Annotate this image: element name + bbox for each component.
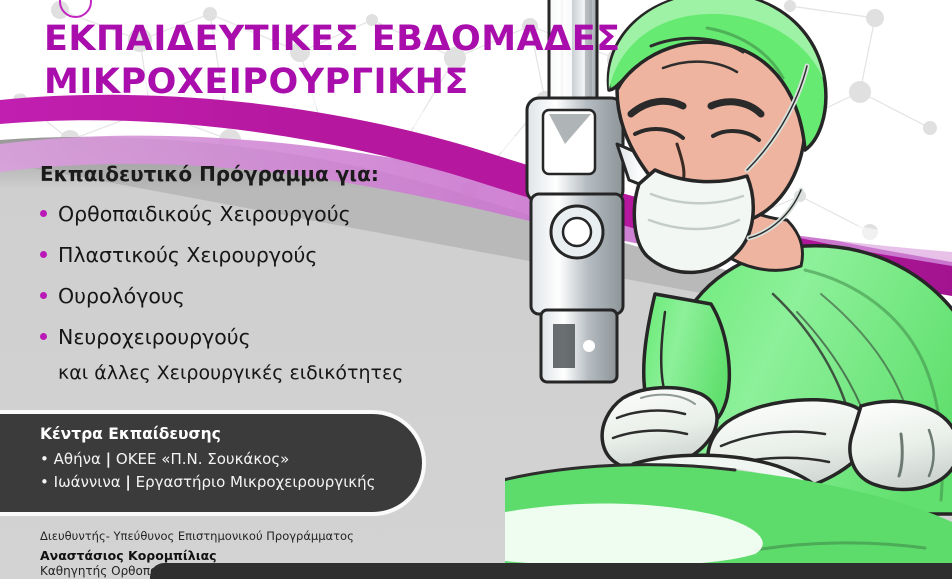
center-bullet-icon: • bbox=[40, 450, 49, 468]
center-city: Αθήνα bbox=[54, 450, 101, 468]
program-note: και άλλες Χειρουργικές ειδικότητες bbox=[58, 362, 510, 384]
credit-role: Διευθυντής- Υπεύθυνος Επιστημονικού Προγ… bbox=[40, 529, 354, 543]
program-list-item: Πλαστικούς Χειρουργούς bbox=[40, 243, 510, 267]
program-item-label: Νευροχειρουργούς bbox=[58, 325, 251, 349]
logo-ring-icon bbox=[59, 0, 92, 18]
program-block: Εκπαιδευτικό Πρόγραμμα για: Ορθοπαιδικού… bbox=[40, 162, 510, 384]
training-centers-panel: Κέντρα Εκπαίδευσης • Αθήνα | ΟΚΕΕ «Π.Ν. … bbox=[0, 414, 422, 512]
bullet-dot-icon bbox=[40, 292, 47, 299]
program-list-item: Ορθοπαιδικούς Χειρουργούς bbox=[40, 202, 510, 226]
program-list-item: Ουρολόγους bbox=[40, 284, 510, 308]
program-list-item: Νευροχειρουργούς bbox=[40, 325, 510, 349]
program-heading: Εκπαιδευτικό Πρόγραμμα για: bbox=[40, 162, 510, 186]
program-item-label: Ουρολόγους bbox=[58, 284, 185, 308]
center-bullet-icon: • bbox=[40, 473, 49, 491]
center-venue: ΟΚΕΕ «Π.Ν. Σουκάκος» bbox=[116, 450, 289, 468]
bullet-dot-icon bbox=[40, 210, 47, 217]
center-separator: | bbox=[106, 450, 111, 468]
center-venue: Εργαστήριο Μικροχειρουργικής bbox=[136, 473, 376, 491]
training-center-item: • Αθήνα | ΟΚΕΕ «Π.Ν. Σουκάκος» bbox=[40, 450, 422, 468]
bullet-dot-icon bbox=[40, 251, 47, 258]
center-city: Ιωάννινα bbox=[54, 473, 121, 491]
bottom-dark-strip bbox=[150, 563, 952, 579]
program-item-label: Πλαστικούς Χειρουργούς bbox=[58, 243, 317, 267]
bullet-dot-icon bbox=[40, 333, 47, 340]
training-center-item: • Ιωάννινα | Εργαστήριο Μικροχειρουργική… bbox=[40, 473, 422, 491]
credit-name: Αναστάσιος Κορομπίλιας bbox=[40, 548, 354, 563]
title-line-1: ΕΚΠΑΙΔΕΥΤΙΚΕΣ ΕΒΔΟΜΑΔΕΣ bbox=[44, 22, 621, 57]
training-centers-title: Κέντρα Εκπαίδευσης bbox=[40, 425, 422, 443]
program-item-label: Ορθοπαιδικούς Χειρουργούς bbox=[58, 202, 351, 226]
page-title: ΕΚΠΑΙΔΕΥΤΙΚΕΣ ΕΒΔΟΜΑΔΕΣ ΜΙΚΡΟΧΕΙΡΟΥΡΓΙΚΗ… bbox=[44, 22, 621, 108]
center-separator: | bbox=[125, 473, 130, 491]
title-line-2: ΜΙΚΡΟΧΕΙΡΟΥΡΓΙΚΗΣ bbox=[44, 65, 621, 100]
poster-root: ΕΚΠΑΙΔΕΥΤΙΚΕΣ ΕΒΔΟΜΑΔΕΣ ΜΙΚΡΟΧΕΙΡΟΥΡΓΙΚΗ… bbox=[0, 0, 952, 579]
